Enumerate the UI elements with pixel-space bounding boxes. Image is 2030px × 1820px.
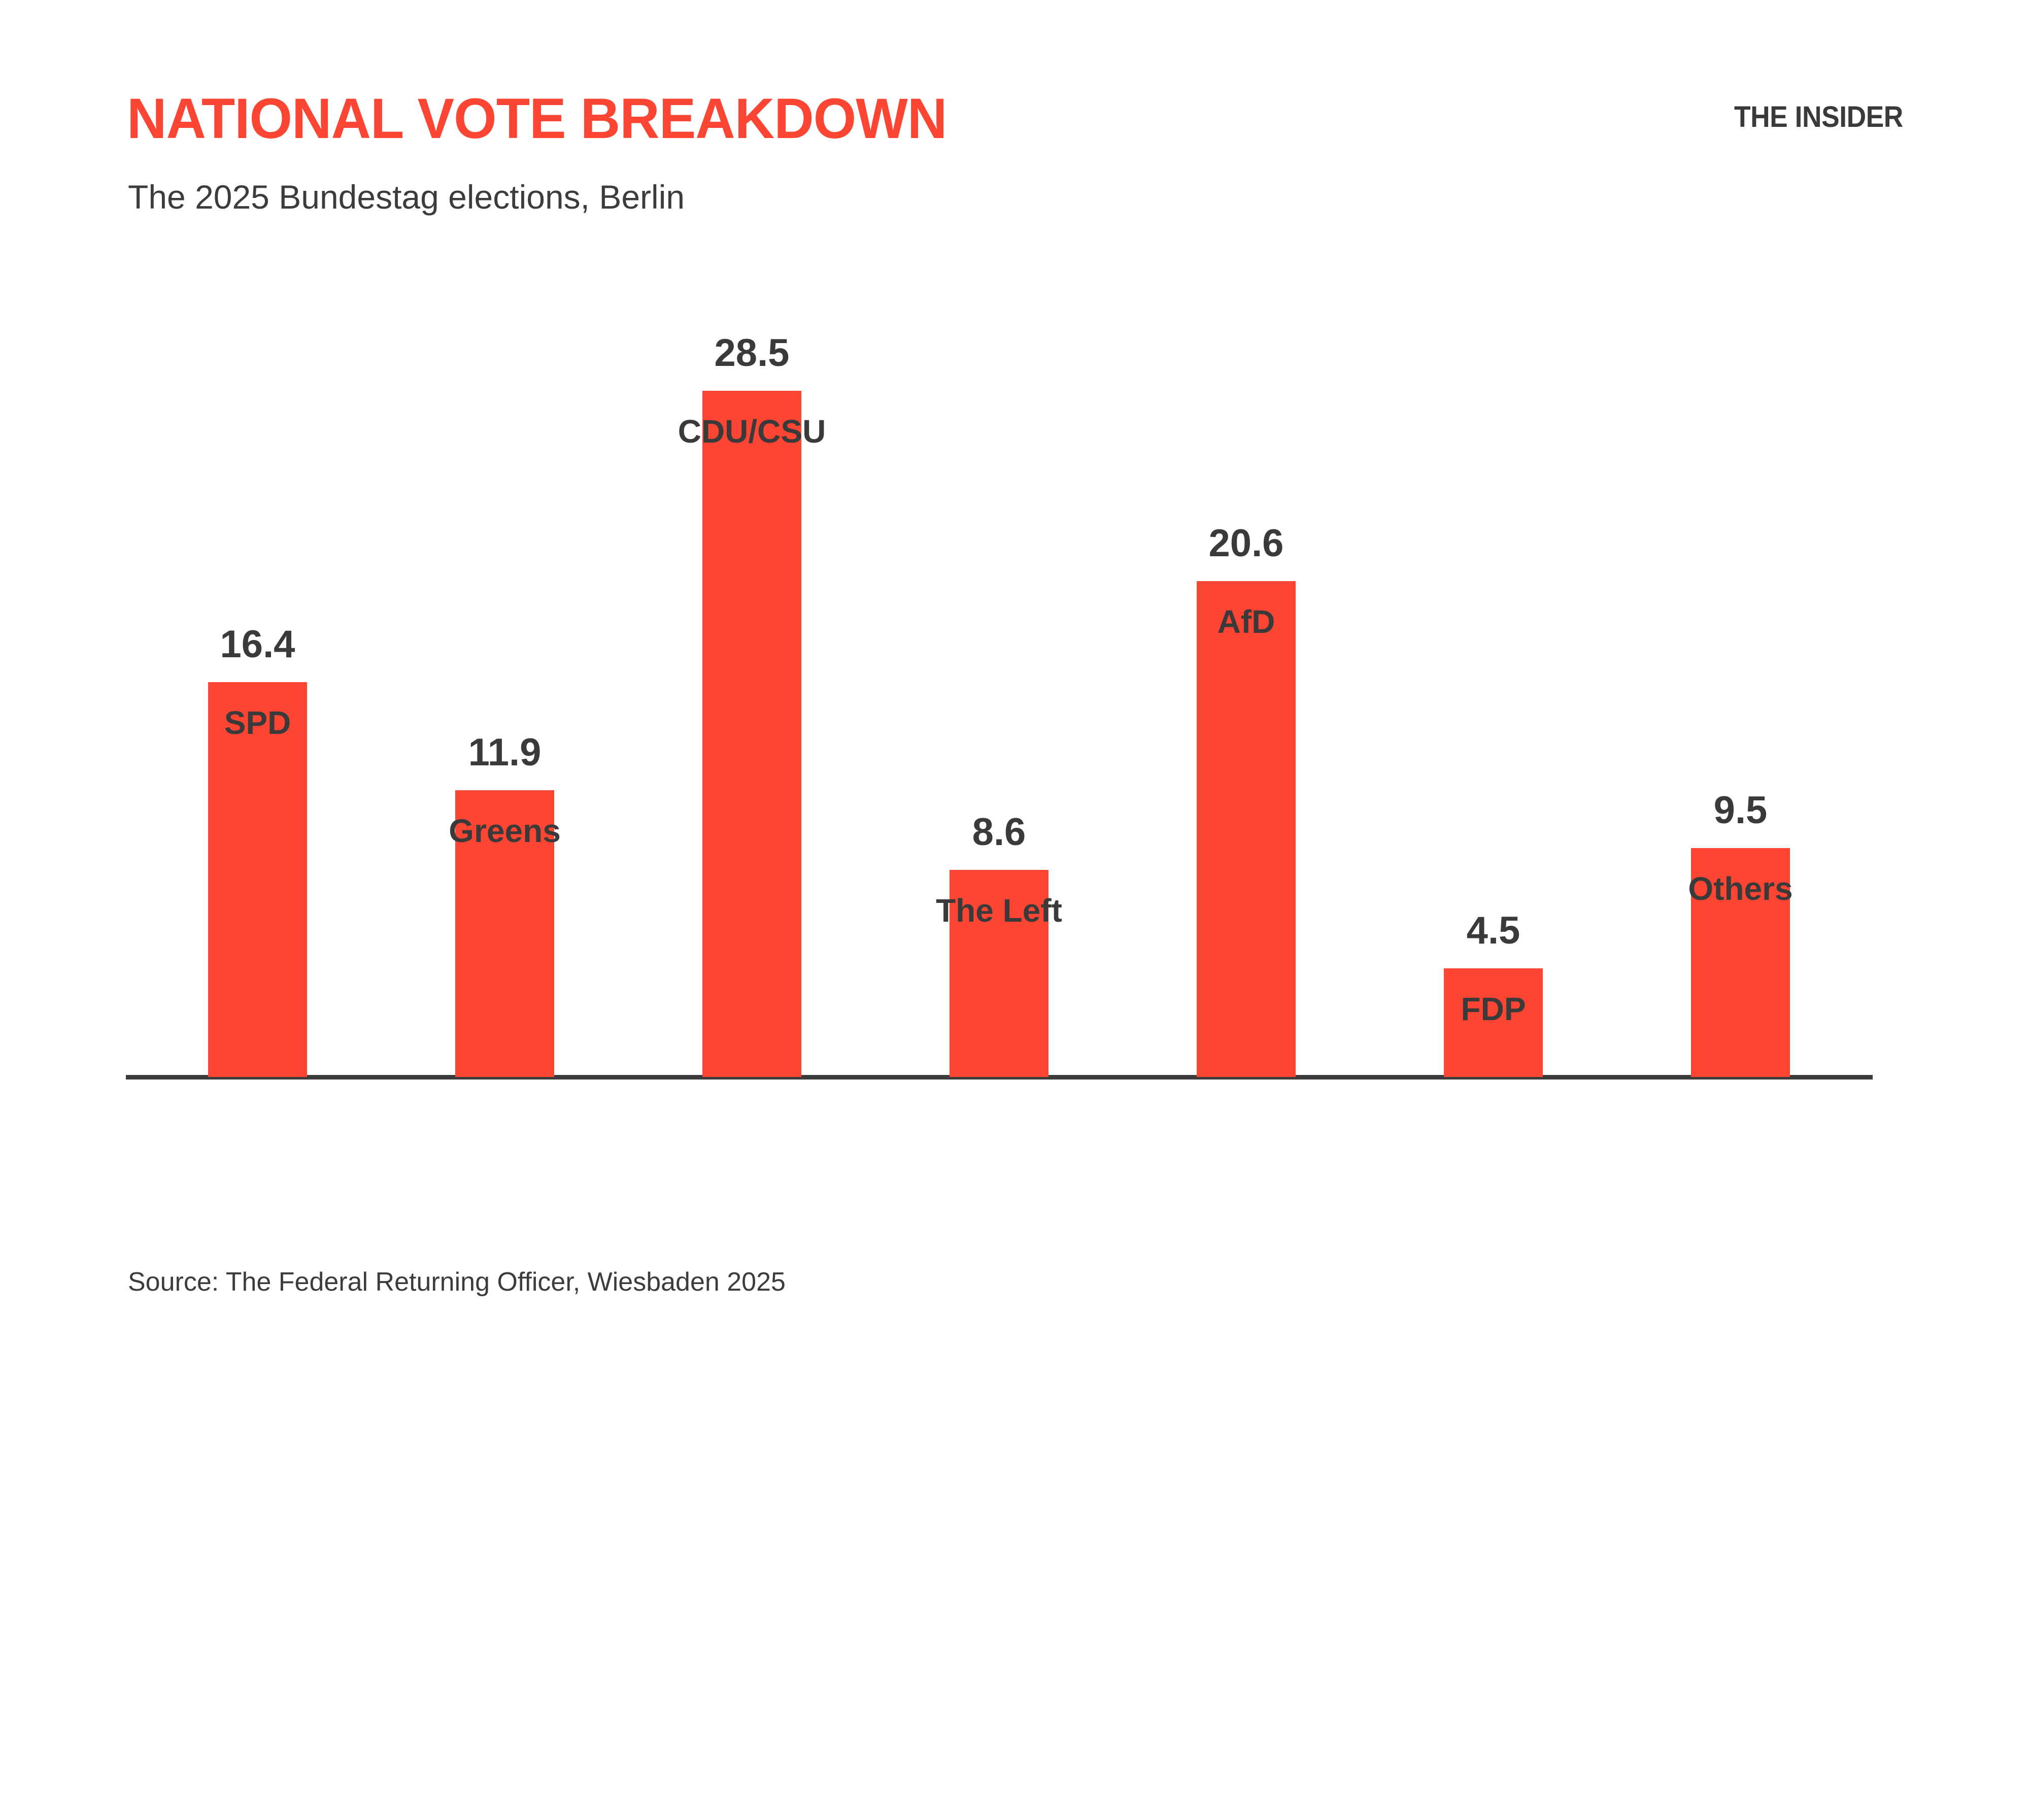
bar-value-label: 16.4 — [147, 625, 368, 664]
bar-group: 9.5Others — [1691, 848, 1790, 1077]
bar-value-label: 9.5 — [1630, 791, 1851, 830]
bar-value-label: 28.5 — [641, 334, 862, 373]
bar-group: 4.5FDP — [1444, 968, 1543, 1077]
bar-group: 11.9Greens — [455, 790, 554, 1077]
x-axis-tick-label: Others — [1595, 872, 1886, 1363]
bar-value-label: 20.6 — [1136, 524, 1357, 563]
bar-group: 8.6The Left — [950, 870, 1048, 1077]
bar-value-label: 8.6 — [889, 813, 1109, 852]
source-note: Source: The Federal Returning Officer, W… — [128, 1269, 786, 1295]
bar-chart-plot: 16.4SPD11.9Greens28.5CDU/CSU8.6The Left2… — [0, 0, 2030, 1396]
bar-group: 28.5CDU/CSU — [702, 391, 801, 1077]
bar-group: 20.6AfD — [1197, 581, 1296, 1077]
bar-value-label: 4.5 — [1383, 912, 1604, 950]
bar-value-label: 11.9 — [394, 733, 615, 772]
bar-group: 16.4SPD — [208, 682, 307, 1077]
